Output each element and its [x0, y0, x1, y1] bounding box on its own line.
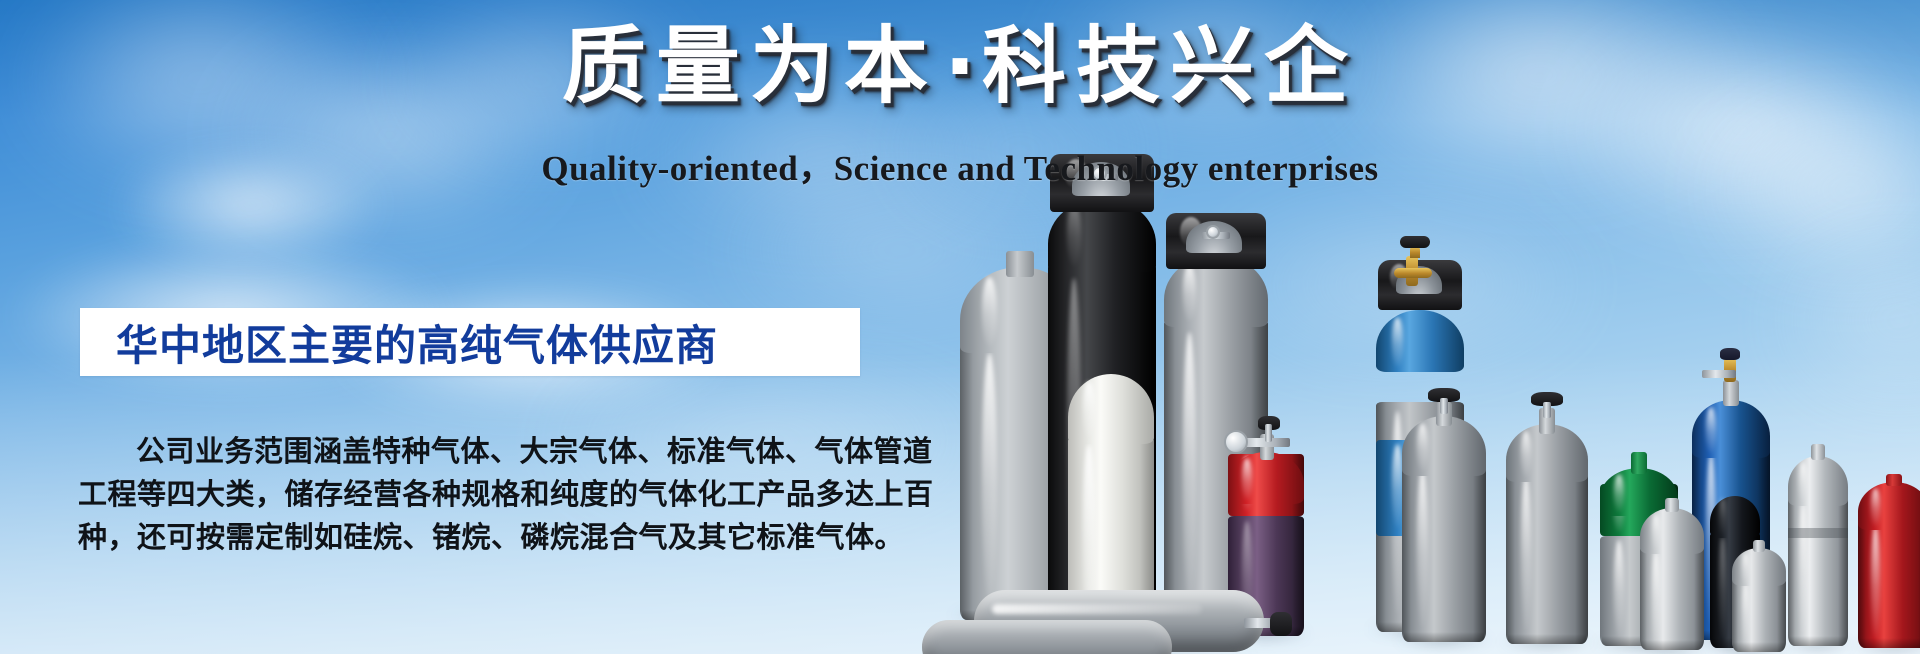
banner-headline: 质量为本·科技兴企	[0, 24, 1920, 108]
cylinder-grey-knob	[1506, 394, 1588, 644]
banner-paragraph: 公司业务范围涵盖特种气体、大宗气体、标准气体、气体管道 工程等四大类，储存经营各…	[78, 430, 888, 559]
paragraph-line-3: 种，还可按需定制如硅烷、锗烷、磷烷混合气及其它标准气体。	[78, 516, 888, 559]
headline-right: 科技兴企	[982, 17, 1358, 115]
cylinder-red	[1858, 482, 1920, 648]
paragraph-line-1: 公司业务范围涵盖特种气体、大宗气体、标准气体、气体管道	[78, 430, 888, 473]
cylinder-aluminium-mini	[1732, 548, 1786, 652]
cylinder-grey-labelled	[1402, 392, 1486, 642]
highlight-box-text: 华中地区主要的高纯气体供应商	[80, 312, 718, 373]
headline-left: 质量为本	[562, 17, 938, 115]
pressure-gauge-icon	[1224, 430, 1248, 454]
highlight-box: 华中地区主要的高纯气体供应商	[80, 308, 860, 376]
promotional-banner: 质量为本·科技兴企 Quality-oriented，Science and T…	[0, 0, 1920, 654]
paragraph-line-2: 工程等四大类，储存经营各种规格和纯度的气体化工产品多达上百	[78, 473, 888, 516]
headline-separator: ·	[938, 17, 982, 115]
cylinder-aluminium-small	[1640, 508, 1704, 650]
cylinder-neck	[1006, 251, 1034, 277]
banner-subheadline: Quality-oriented，Science and Technology …	[0, 140, 1920, 191]
tank-horizontal-grey-back	[922, 616, 1172, 654]
cylinder-aluminium-tall	[1788, 450, 1848, 646]
